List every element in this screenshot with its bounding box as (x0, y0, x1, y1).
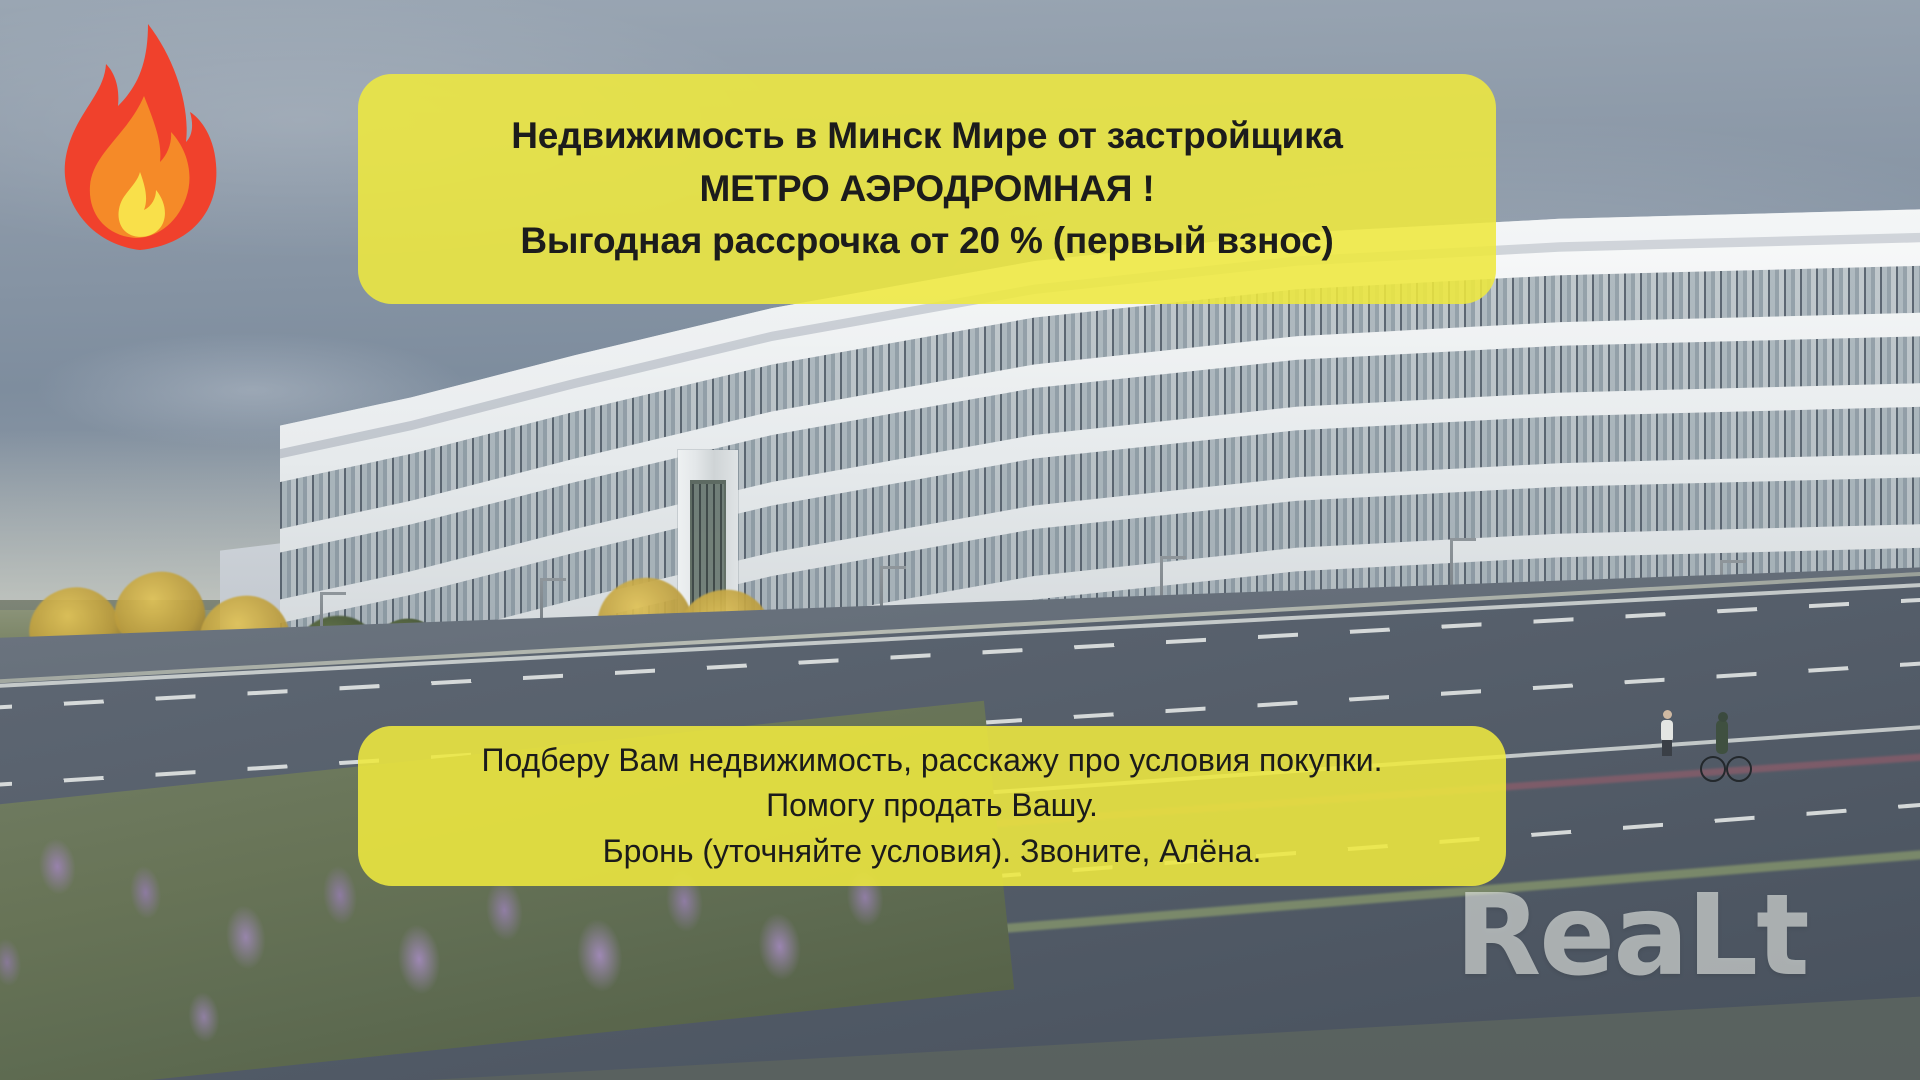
street-lamp-arm (1160, 556, 1186, 559)
watermark-r: R (1455, 871, 1539, 1001)
headline-banner: Недвижимость в Минск Мире от застройщика… (358, 74, 1496, 304)
bicycle-wheel (1726, 756, 1752, 782)
street-lamp-arm (1720, 560, 1746, 563)
headline-line-2: МЕТРО АЭРОДРОМНАЯ ! (700, 163, 1155, 216)
contact-line-2: Помогу продать Вашу. (766, 783, 1098, 828)
pedestrian-torso (1661, 720, 1673, 742)
street-lamp-arm (320, 592, 346, 595)
watermark-ea: ea (1539, 871, 1687, 1001)
realt-watermark: ReaLt (1455, 880, 1808, 992)
fire-emoji (44, 22, 234, 252)
street-lamp-arm (540, 578, 566, 581)
watermark-t: t (1756, 871, 1808, 1001)
headline-line-1: Недвижимость в Минск Мире от застройщика (511, 110, 1343, 163)
cyclist (1700, 718, 1752, 782)
pedestrian-legs (1662, 740, 1672, 756)
headline-line-3: Выгодная рассрочка от 20 % (первый взнос… (520, 215, 1333, 268)
watermark-l: L (1687, 871, 1756, 1001)
cyclist-body (1716, 720, 1728, 754)
cyclist-head (1718, 712, 1728, 722)
street-lamp-arm (1450, 538, 1476, 541)
contact-line-3: Бронь (уточняйте условия). Звоните, Алён… (603, 829, 1262, 874)
pedestrian (1660, 710, 1674, 766)
contact-banner: Подберу Вам недвижимость, расскажу про у… (358, 726, 1506, 886)
pedestrian-head (1663, 710, 1672, 719)
bicycle-wheel (1700, 756, 1726, 782)
street-lamp-arm (880, 566, 906, 569)
contact-line-1: Подберу Вам недвижимость, расскажу про у… (481, 738, 1382, 783)
advertisement-canvas: Недвижимость в Минск Мире от застройщика… (0, 0, 1920, 1080)
